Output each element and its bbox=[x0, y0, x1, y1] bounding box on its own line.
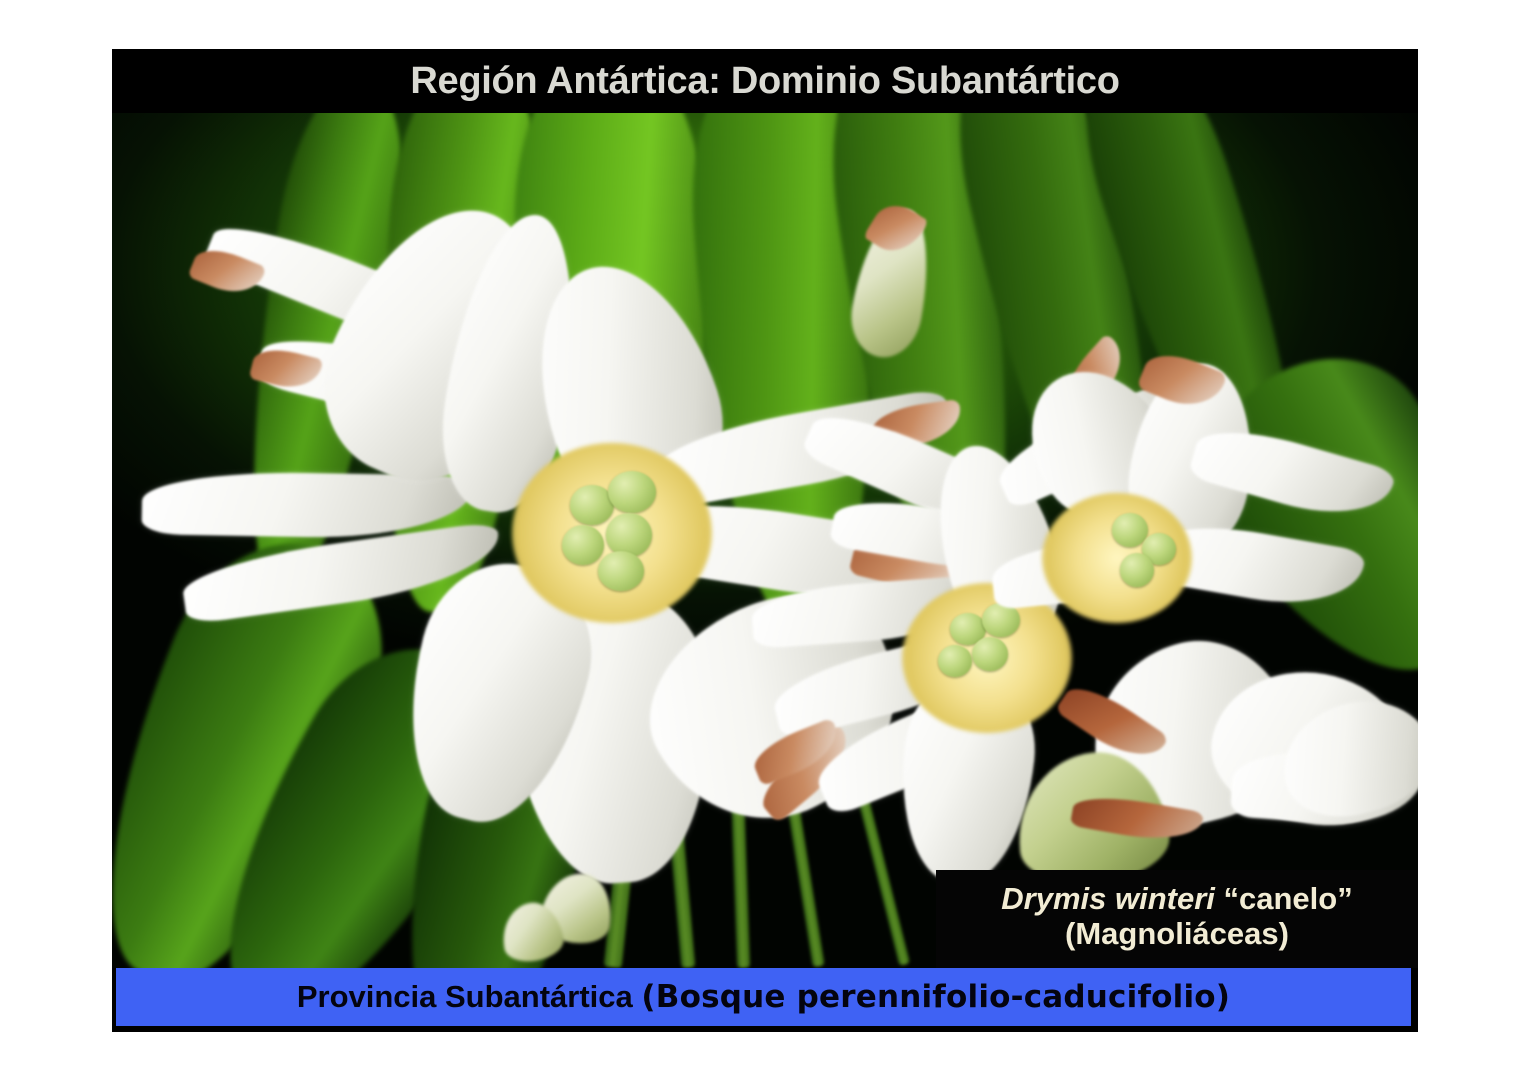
carpel bbox=[606, 513, 652, 557]
slide-header-band: Región Antártica: Dominio Subantártico bbox=[112, 49, 1418, 113]
carpel bbox=[562, 525, 604, 565]
carpel bbox=[938, 645, 972, 677]
carpel bbox=[972, 637, 1008, 671]
province-banner: Provincia Subantártica (Bosque perennifo… bbox=[116, 968, 1411, 1026]
caption-species-line: Drymis winteri “canelo” bbox=[1001, 882, 1352, 917]
caption-species-name: Drymis winteri bbox=[1001, 881, 1215, 916]
province-banner-text: Provincia Subantártica (Bosque perennifo… bbox=[297, 981, 1230, 1013]
slide: Región Antártica: Dominio Subantártico bbox=[112, 49, 1418, 1032]
province-label-secondary: (Bosque perennifolio-caducifolio) bbox=[641, 979, 1230, 1015]
flower-photograph: Drymis winteri “canelo” (Magnoliáceas) bbox=[112, 113, 1418, 968]
slide-title: Región Antártica: Dominio Subantártico bbox=[410, 62, 1119, 100]
carpel bbox=[608, 471, 656, 513]
species-caption-box: Drymis winteri “canelo” (Magnoliáceas) bbox=[936, 870, 1418, 968]
caption-family: (Magnoliáceas) bbox=[1065, 917, 1289, 952]
carpel bbox=[598, 551, 644, 591]
carpel bbox=[1120, 553, 1154, 587]
province-label-primary: Provincia Subantártica bbox=[297, 979, 642, 1014]
caption-common-name: “canelo” bbox=[1224, 881, 1353, 916]
